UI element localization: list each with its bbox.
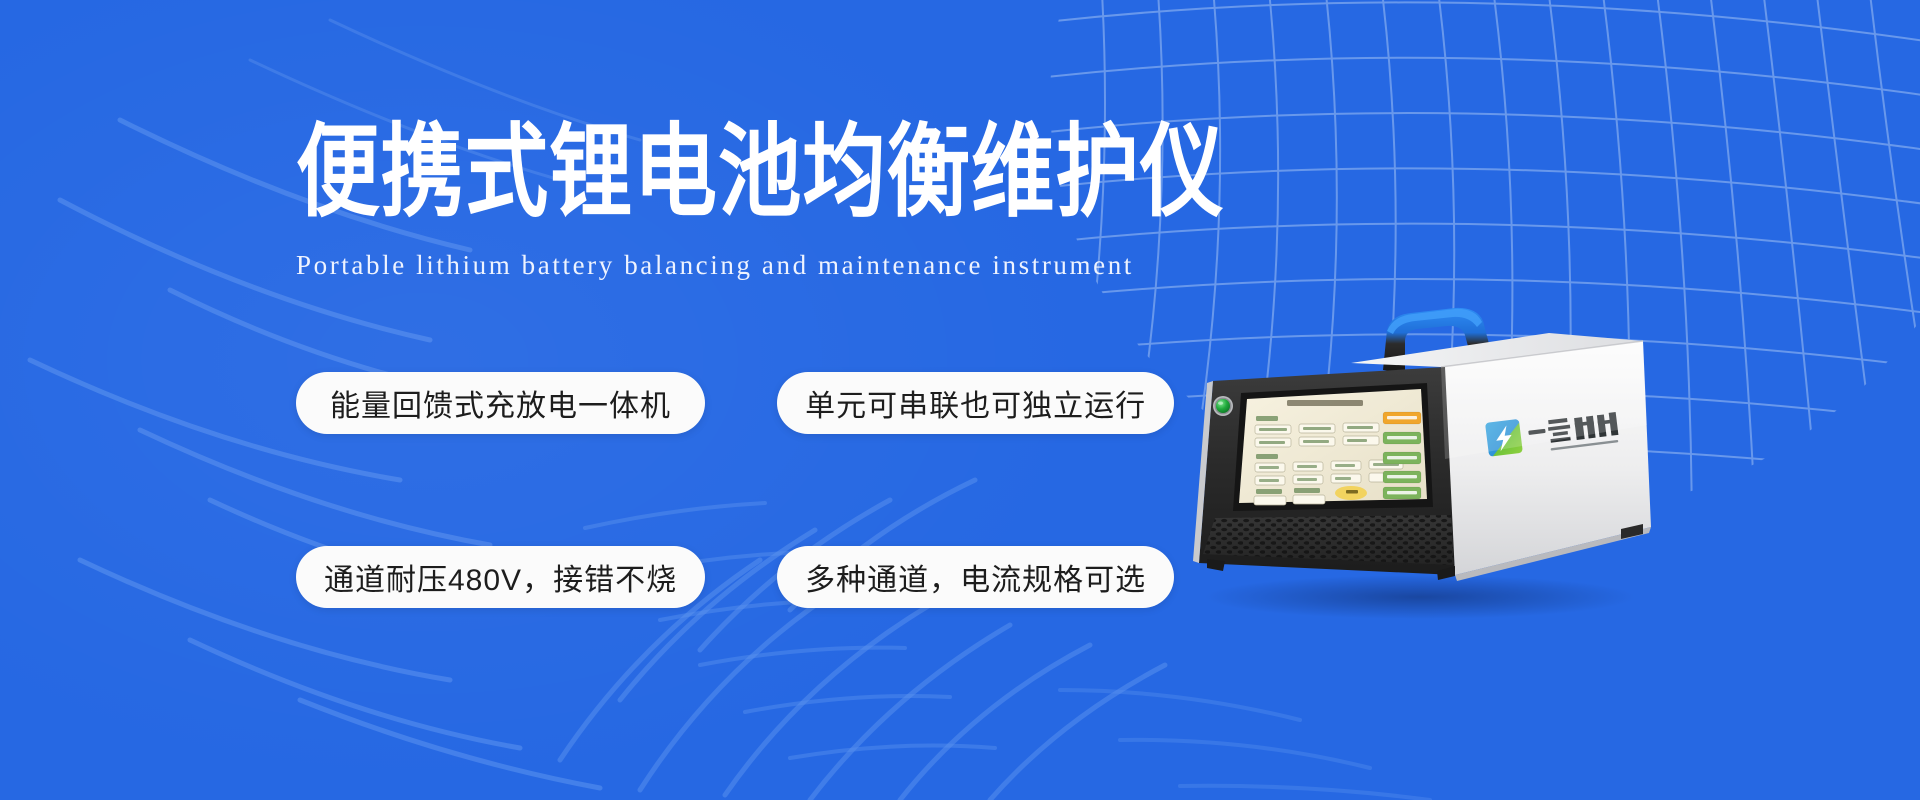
- power-indicator: [1213, 396, 1233, 416]
- product-device-image: [1155, 275, 1665, 620]
- feature-pill[interactable]: 通道耐压480V，接错不烧: [296, 546, 705, 608]
- feature-pill[interactable]: 能量回馈式充放电一体机: [296, 372, 705, 434]
- feature-pill[interactable]: 多种通道，电流规格可选: [777, 546, 1174, 608]
- promo-banner: 便携式锂电池均衡维护仪 Portable lithium battery bal…: [0, 0, 1920, 800]
- feature-pill-list: 能量回馈式充放电一体机 单元可串联也可独立运行 通道耐压480V，接错不烧 多种…: [296, 372, 1174, 608]
- feature-pill[interactable]: 单元可串联也可独立运行: [777, 372, 1174, 434]
- headline-block: 便携式锂电池均衡维护仪 Portable lithium battery bal…: [296, 122, 1416, 281]
- page-title: 便携式锂电池均衡维护仪: [296, 122, 1382, 223]
